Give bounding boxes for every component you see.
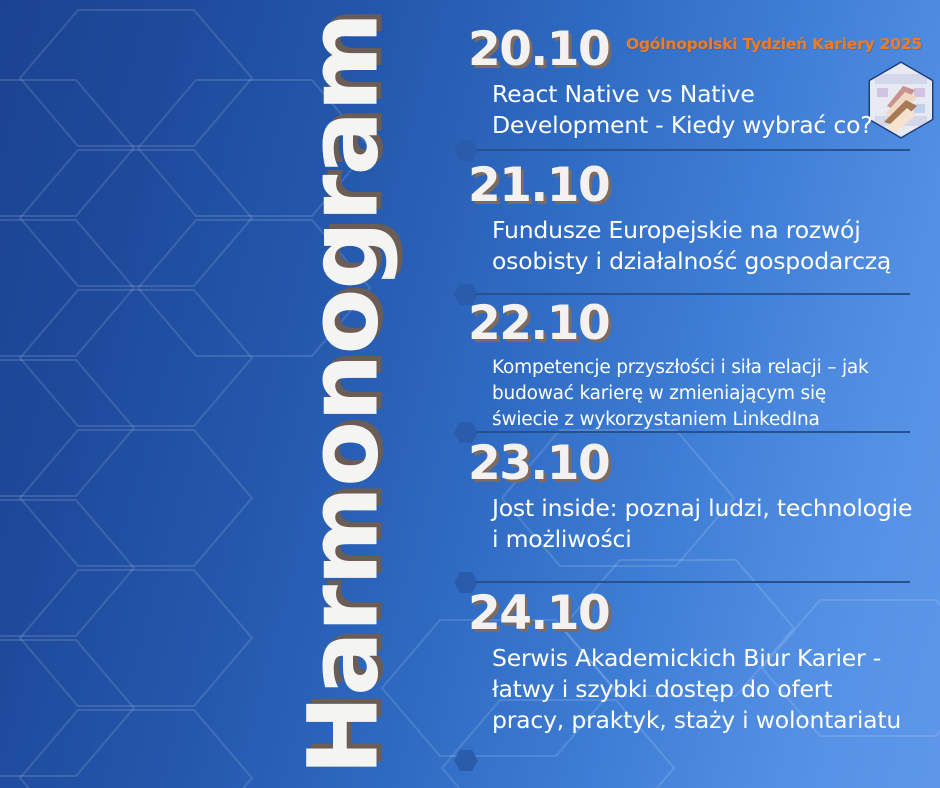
entry-separator [454,748,910,772]
separator-rule [476,293,910,295]
entry-date: 20.10 [468,26,940,73]
separator-rule [476,149,910,151]
page-title: Harmonogram [295,13,391,776]
separator-rule [476,431,910,433]
entry-date: 24.10 [468,590,940,637]
schedule-entry: 22.10 Kompetencje przyszłości i siła rel… [440,300,940,433]
schedule-entry: 24.10 Serwis Akademickich Biur Karier - … [440,590,940,736]
schedule-entry: 20.10 React Native vs Native Development… [440,26,940,141]
schedule-entry: 23.10 Jost inside: poznaj ludzi, technol… [440,440,940,555]
entry-title: Jost inside: poznaj ludzi, technologie i… [492,493,922,555]
entry-title: Fundusze Europejskie na rozwój osobisty … [492,215,912,277]
entry-date: 21.10 [468,162,940,209]
entry-title: Serwis Akademickich Biur Karier - łatwy … [492,643,902,736]
entry-date: 23.10 [468,440,940,487]
schedule-poster: Harmonogram Ogólnopolski Tydzień Kariery… [0,0,940,788]
schedule-column: Ogólnopolski Tydzień Kariery 2025 [440,0,940,788]
schedule-entry: 21.10 Fundusze Europejskie na rozwój oso… [440,162,940,277]
separator-rule [476,581,910,583]
entry-title: React Native vs Native Development - Kie… [492,79,892,141]
poster-title-container: Harmonogram [278,0,408,788]
entry-date: 22.10 [468,300,940,347]
hexagon-bullet-icon [454,750,478,771]
